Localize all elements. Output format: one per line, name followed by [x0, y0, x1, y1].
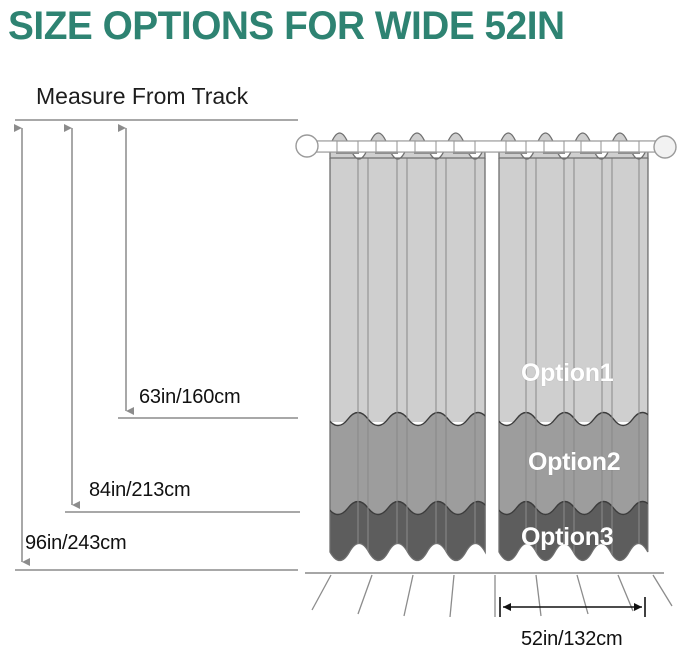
curtain-panel-right — [497, 133, 652, 570]
rod-finial-left — [296, 135, 318, 157]
dimension-line-96in — [15, 128, 298, 570]
panel-label-option1: Option1 — [521, 359, 613, 388]
panel-label-option2: Option2 — [528, 448, 620, 477]
diagram-canvas — [0, 0, 679, 660]
dimension-label-52in: 52in/132cm — [521, 628, 622, 651]
panel-label-option3: Option3 — [521, 523, 613, 552]
dimension-label-63in: 63in/160cm — [139, 386, 240, 409]
dimension-line-52in — [500, 597, 645, 617]
dimension-line-84in — [65, 128, 300, 512]
floor-line — [305, 573, 672, 617]
rod-finial-right — [654, 136, 676, 158]
size-guide-diagram: SIZE OPTIONS FOR WIDE 52IN Measure From … — [0, 0, 679, 660]
dimension-line-63in — [118, 128, 298, 418]
dimension-label-96in: 96in/243cm — [25, 532, 126, 555]
dimension-label-84in: 84in/213cm — [89, 479, 190, 502]
curtain-panel-left — [328, 133, 488, 570]
